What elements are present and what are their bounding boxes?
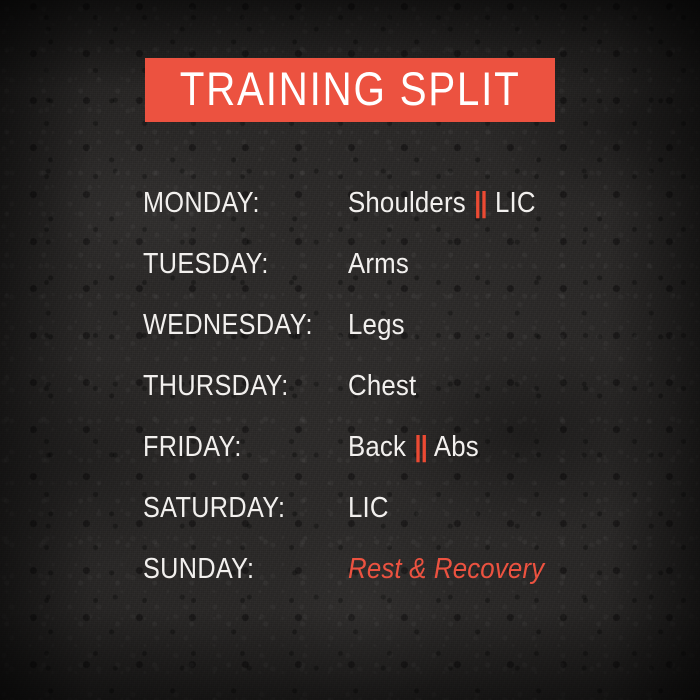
day-label-thursday: THURSDAY: [143,369,321,403]
separator-icon: || [473,187,487,219]
schedule-row-monday: MONDAY: Shoulders || LIC [143,186,623,247]
title-banner: TRAINING SPLIT [145,58,555,122]
schedule-row-friday: FRIDAY: Back || Abs [143,430,623,491]
value-prefix: Back [348,431,413,463]
page-title: TRAINING SPLIT [180,65,521,115]
day-value-thursday: Chest [348,369,416,403]
day-value-wednesday: Legs [348,308,405,342]
day-value-saturday: LIC [348,491,389,525]
day-label-sunday: SUNDAY: [143,552,321,586]
day-label-wednesday: WEDNESDAY: [143,308,321,342]
day-value-tuesday: Arms [348,247,409,281]
value-suffix: LIC [488,187,536,219]
separator-icon: || [413,431,427,463]
schedule-row-tuesday: TUESDAY: Arms [143,247,623,308]
day-value-friday: Back || Abs [348,430,479,464]
day-label-tuesday: TUESDAY: [143,247,321,281]
day-label-saturday: SATURDAY: [143,491,321,525]
value-prefix: Shoulders [348,187,473,219]
training-schedule-list: MONDAY: Shoulders || LIC TUESDAY: Arms W… [143,186,623,613]
day-label-monday: MONDAY: [143,186,321,220]
value-suffix: Abs [428,431,479,463]
schedule-row-saturday: SATURDAY: LIC [143,491,623,552]
schedule-row-sunday: SUNDAY: Rest & Recovery [143,552,623,613]
training-split-poster: TRAINING SPLIT MONDAY: Shoulders || LIC … [0,0,700,700]
day-label-friday: FRIDAY: [143,430,321,464]
day-value-sunday: Rest & Recovery [348,552,544,586]
schedule-row-thursday: THURSDAY: Chest [143,369,623,430]
day-value-monday: Shoulders || LIC [348,186,536,220]
schedule-row-wednesday: WEDNESDAY: Legs [143,308,623,369]
poster-content: TRAINING SPLIT MONDAY: Shoulders || LIC … [0,0,700,700]
